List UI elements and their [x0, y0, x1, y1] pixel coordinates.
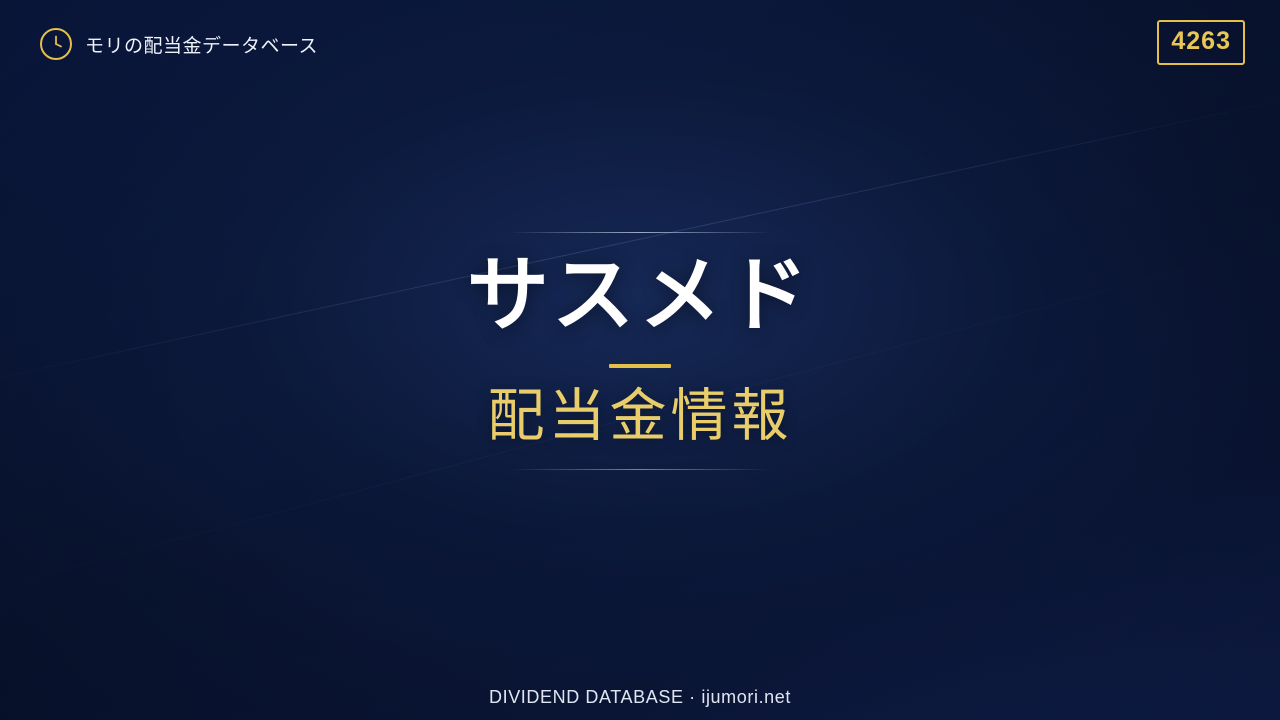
ticker-code-badge: 4263 [1157, 20, 1245, 65]
gold-dash-divider-icon [609, 364, 671, 368]
footer-credit: DIVIDEND DATABASE · ijumori.net [0, 687, 1280, 708]
company-name: サスメド [467, 255, 813, 337]
title-top-rule [509, 232, 771, 233]
title-block: サスメド 配当金情報 [0, 232, 1280, 470]
site-title: モリの配当金データベース [85, 31, 318, 58]
slide-canvas: モリの配当金データベース 4263 サスメド 配当金情報 DIVIDEND DA… [0, 0, 1280, 720]
title-bottom-rule [509, 469, 771, 470]
page-header: モリの配当金データベース [40, 28, 318, 60]
page-subtitle: 配当金情報 [488, 387, 793, 447]
clock-circle-icon [40, 28, 72, 60]
